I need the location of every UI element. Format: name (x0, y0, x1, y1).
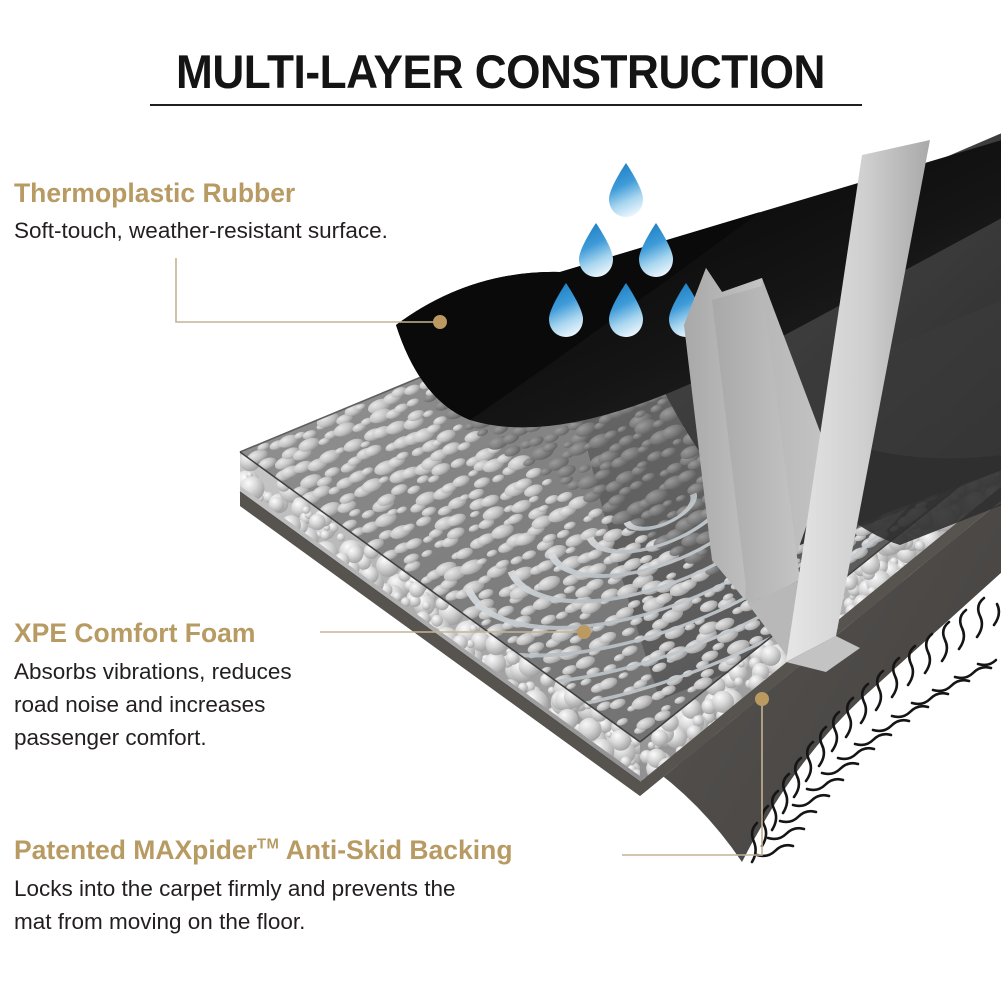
callout-title-maxpider-anti-skid-backing: Patented MAXpiderTM Anti-Skid Backing (14, 835, 513, 866)
callout-body-line: Soft-touch, weather-resistant surface. (14, 216, 388, 246)
leader-dot-maxpider-backing (755, 692, 769, 706)
callout-title-thermoplastic-rubber: Thermoplastic Rubber (14, 178, 295, 209)
callout-body-maxpider-anti-skid-backing: Locks into the carpet firmly and prevent… (14, 872, 455, 938)
trademark-symbol: TM (257, 836, 279, 852)
leader-line-thermoplastic-rubber (176, 258, 437, 322)
callout-body-line: Absorbs vibrations, reduces (14, 655, 292, 688)
callout-body-line: road noise and increases (14, 688, 292, 721)
leader-dot-thermoplastic-rubber (433, 315, 447, 329)
water-droplet (609, 163, 643, 217)
callout-title-text-post: Anti-Skid Backing (279, 835, 512, 865)
infographic-canvas: MULTI-LAYER CONSTRUCTION (0, 0, 1001, 1001)
callout-title-xpe-comfort-foam: XPE Comfort Foam (14, 618, 255, 649)
water-droplet (639, 223, 673, 277)
callout-body-xpe-comfort-foam: Absorbs vibrations, reduces road noise a… (14, 655, 292, 754)
leader-dot-xpe-comfort-foam (577, 625, 591, 639)
callout-body-thermoplastic-rubber: Soft-touch, weather-resistant surface. (14, 216, 388, 246)
callout-body-line: mat from moving on the floor. (14, 905, 455, 938)
callout-title-text-pre: Patented MAXpider (14, 835, 257, 865)
water-droplet (579, 223, 613, 277)
callout-body-line: passenger comfort. (14, 721, 292, 754)
callout-body-line: Locks into the carpet firmly and prevent… (14, 872, 455, 905)
